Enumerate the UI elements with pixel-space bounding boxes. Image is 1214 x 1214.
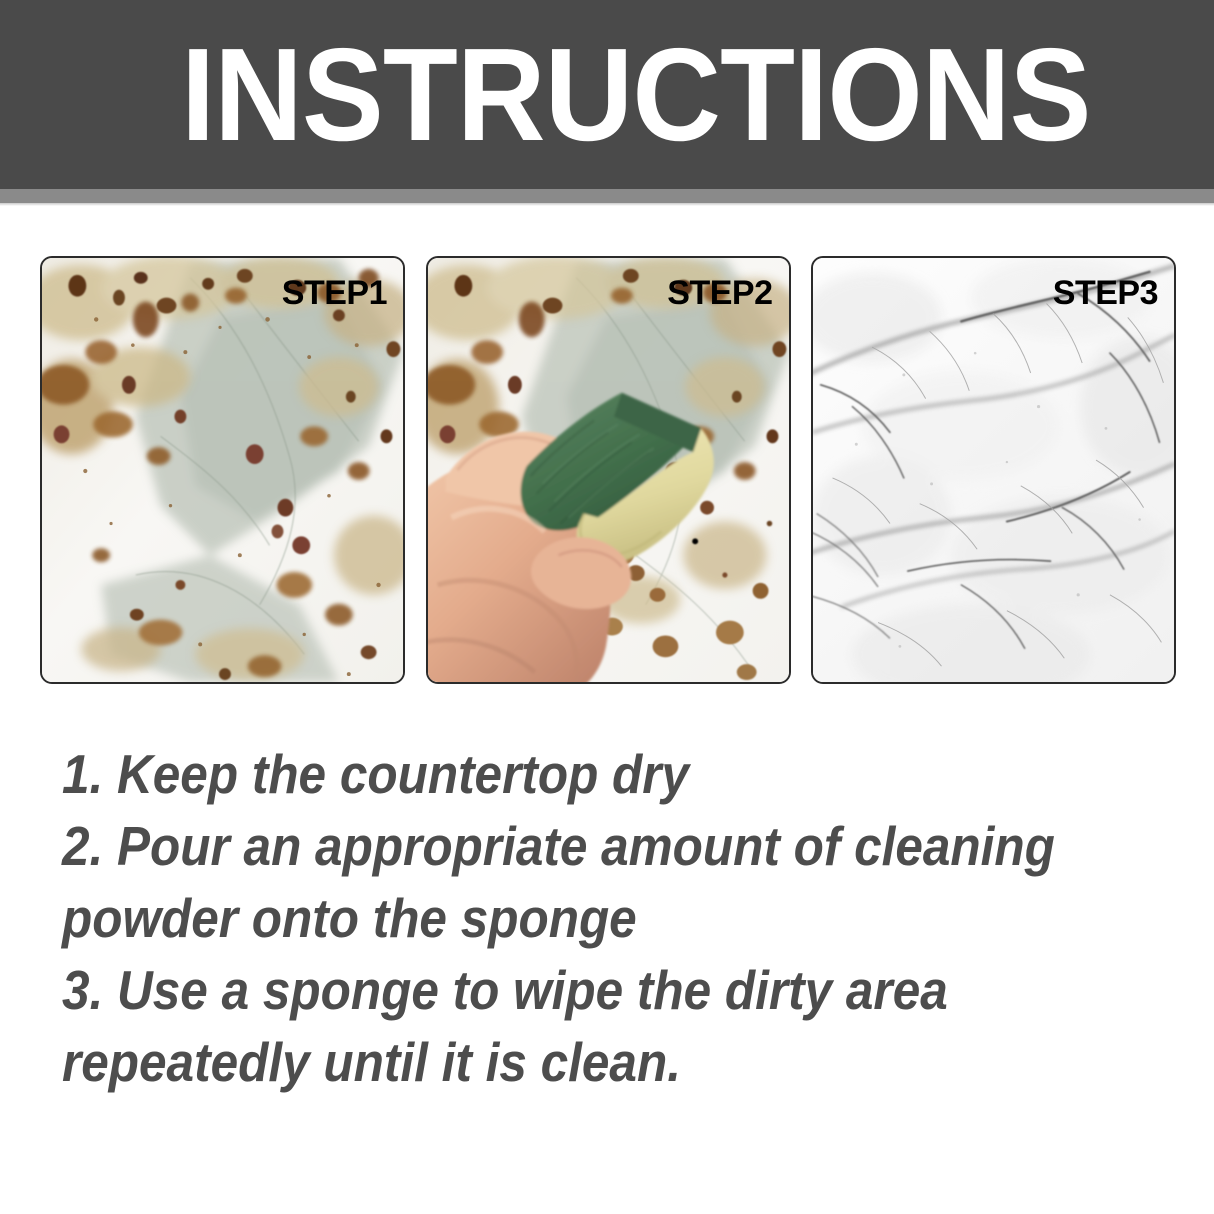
step-label-3: STEP3: [1053, 276, 1158, 310]
step-label-1: STEP1: [282, 276, 387, 310]
clean-marble-image: [813, 258, 1174, 682]
instruction-list: 1. Keep the countertop dry 2. Pour an ap…: [62, 738, 1162, 1098]
header-band: INSTRUCTIONS: [0, 0, 1214, 189]
step-label-2: STEP2: [667, 276, 772, 310]
instruction-line-4: 3. Use a sponge to wipe the dirty area: [62, 954, 1052, 1026]
header-underbar: [0, 189, 1214, 203]
instruction-line-1: 1. Keep the countertop dry: [62, 738, 1052, 810]
hand-with-sponge-image: [428, 258, 789, 682]
page-title: INSTRUCTIONS: [181, 29, 1091, 161]
instruction-line-2: 2. Pour an appropriate amount of cleanin…: [62, 810, 1052, 882]
step-panel-1[interactable]: STEP1: [40, 256, 405, 684]
step-panel-row: STEP1: [40, 256, 1176, 684]
instruction-line-5: repeatedly until it is clean.: [62, 1026, 1052, 1098]
instruction-line-3: powder onto the sponge: [62, 882, 1052, 954]
stained-marble-image: [42, 258, 403, 682]
step-panel-3[interactable]: STEP3: [811, 256, 1176, 684]
step-panel-2[interactable]: STEP2: [426, 256, 791, 684]
header-underbar-shadow: [0, 203, 1214, 206]
